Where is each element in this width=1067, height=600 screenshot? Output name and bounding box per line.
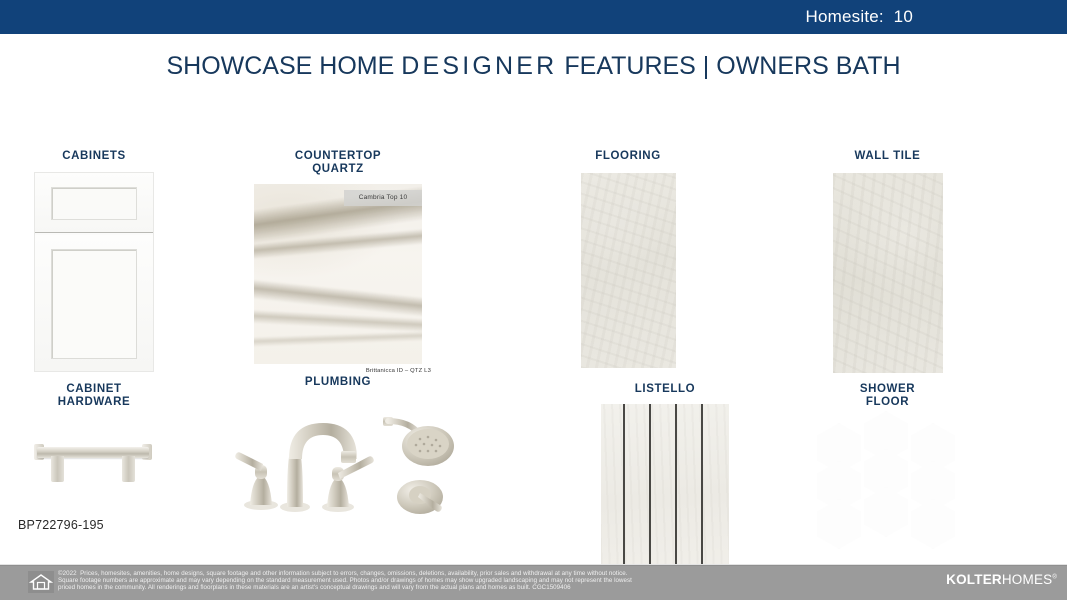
feature-flooring[interactable]: FLOORING xyxy=(558,150,698,368)
feature-countertop[interactable]: COUNTERTOP QUARTZ Cambria Top 10 Brittan… xyxy=(243,150,433,374)
listello-sample-image xyxy=(601,404,729,574)
shower-head xyxy=(383,417,454,466)
feature-shower-floor-caption: SHOWER FLOOR xyxy=(815,383,960,409)
listello-groove xyxy=(701,404,703,574)
feature-cabinets-caption: CABINETS xyxy=(14,150,174,163)
cabinet-pull-post xyxy=(122,456,135,482)
kolter-homes-logo: KOLTERHOMES® xyxy=(946,572,1057,587)
plumbing-sample-image xyxy=(225,401,457,521)
feature-cabinet-hardware-caption: CABINET HARDWARE xyxy=(14,383,174,409)
faucet-left-handle xyxy=(235,452,278,510)
brand-homes: HOMES xyxy=(1002,572,1053,587)
brand-registered-mark: ® xyxy=(1052,575,1057,581)
cabinet-drawer-panel xyxy=(51,187,137,220)
equal-housing-opportunity-icon xyxy=(28,571,54,593)
feature-listello[interactable]: LISTELLO xyxy=(585,383,745,574)
legal-disclaimer: ©2022 Prices, homesites, amenities, home… xyxy=(58,570,918,592)
feature-cabinets[interactable]: CABINETS xyxy=(14,150,174,371)
feature-listello-caption: LISTELLO xyxy=(585,383,745,396)
feature-countertop-caption: COUNTERTOP QUARTZ xyxy=(243,150,433,176)
quartz-slab xyxy=(254,184,422,364)
hex-tile xyxy=(864,487,908,537)
slide-page: Homesite: 10 SHOWCASE HOME DESIGNER FEAT… xyxy=(0,0,1067,600)
legal-line-2: Square footage numbers are approximate a… xyxy=(58,577,918,584)
wall-tile-sample-image xyxy=(833,173,943,373)
cabinet-pull-post xyxy=(51,456,64,482)
quartz-vein xyxy=(254,330,422,348)
cabinet-drawer-front xyxy=(35,173,153,233)
feature-plumbing[interactable]: PLUMBING xyxy=(243,376,433,521)
cabinet-door-front xyxy=(35,235,153,371)
hex-tile xyxy=(817,499,861,549)
plumbing-fixtures-svg xyxy=(225,401,457,521)
feature-plumbing-caption: PLUMBING xyxy=(243,376,433,389)
feature-flooring-caption: FLOORING xyxy=(558,150,698,163)
brand-kolter: KOLTER xyxy=(946,572,1002,587)
feature-cabinet-hardware[interactable]: CABINET HARDWARE xyxy=(14,383,174,493)
legal-line-3: priced homes in the community. All rende… xyxy=(58,584,918,591)
shower-valve-trim xyxy=(397,480,443,514)
listello-groove xyxy=(649,404,651,574)
feature-wall-tile[interactable]: WALL TILE xyxy=(815,150,960,373)
flooring-sample-image xyxy=(581,173,676,368)
cabinet-pull-image xyxy=(29,423,159,493)
feature-shower-floor[interactable]: SHOWER FLOOR xyxy=(815,383,960,537)
listello-groove xyxy=(623,404,625,574)
cabinet-hardware-sku: BP722796-195 xyxy=(18,518,104,532)
listello-groove xyxy=(675,404,677,574)
legal-line-1: ©2022 Prices, homesites, amenities, home… xyxy=(58,570,918,577)
shower-floor-sample-image xyxy=(815,419,960,537)
quartz-sku-label: Brittanicca ID – QTZ L3 xyxy=(243,368,433,374)
hex-tile xyxy=(911,499,955,549)
quartz-tag-label: Cambria Top 10 xyxy=(344,190,422,206)
feature-wall-tile-caption: WALL TILE xyxy=(815,150,960,163)
cabinet-sample-image xyxy=(35,173,153,371)
feature-board: CABINETS COUNTERTOP QUARTZ xyxy=(0,0,1067,600)
quartz-sample-image: Cambria Top 10 xyxy=(254,184,422,364)
faucet-right-handle xyxy=(322,456,374,512)
cabinet-door-panel xyxy=(51,249,137,359)
